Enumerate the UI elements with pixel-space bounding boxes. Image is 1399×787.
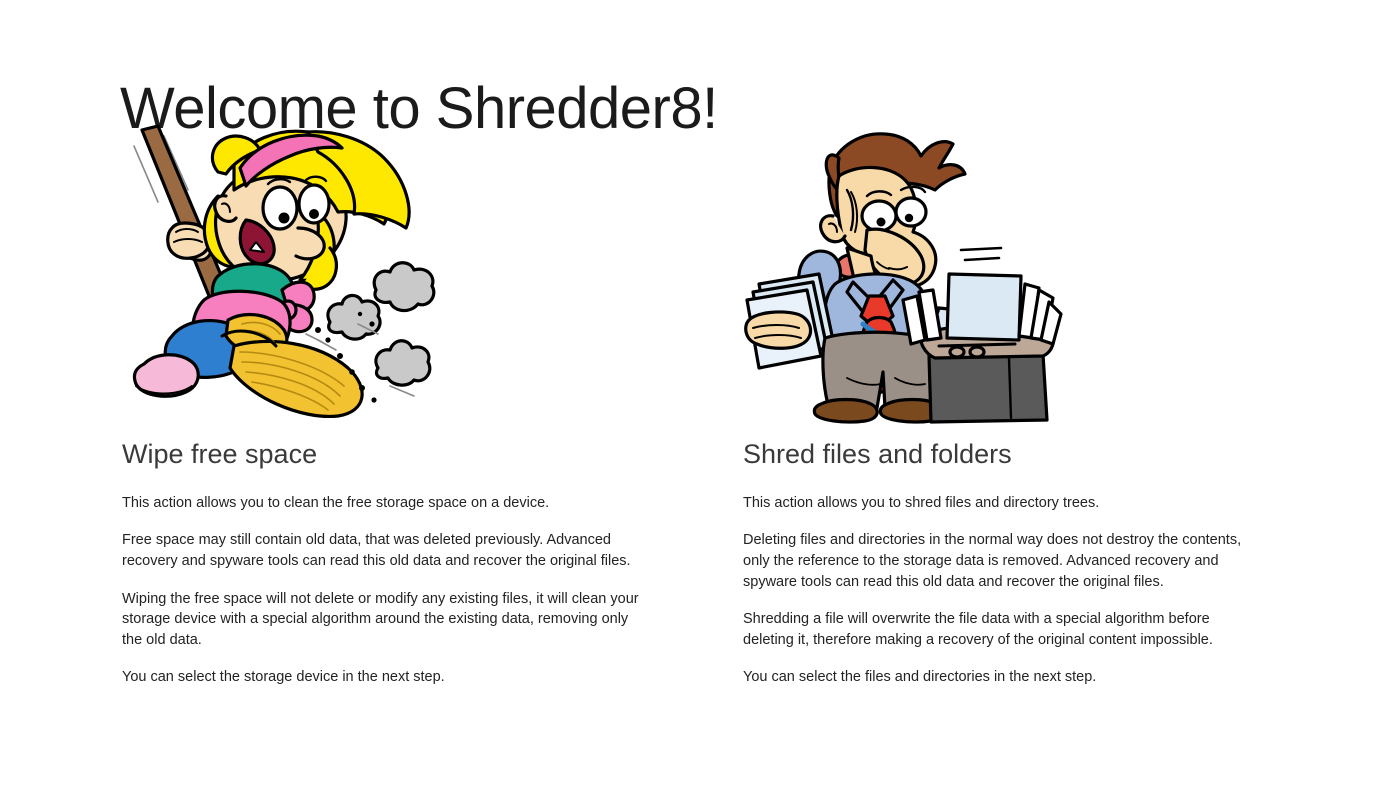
wipe-paragraph-3: Wiping the free space will not delete or… xyxy=(122,589,646,651)
feature-column-shred-files-and-folders[interactable]: Shred files and folders This action allo… xyxy=(743,124,1303,702)
feature-column-wipe-free-space[interactable]: Wipe free space This action allows you t… xyxy=(122,124,682,702)
section-heading-shred-files-and-folders: Shred files and folders xyxy=(743,438,1303,470)
shred-paragraph-1: This action allows you to shred files an… xyxy=(743,493,1253,514)
welcome-page: Welcome to Shredder8! xyxy=(0,0,1399,787)
wipe-paragraph-1: This action allows you to clean the free… xyxy=(122,493,646,514)
girl-sweeping-with-broom-illustration xyxy=(122,124,442,424)
shred-paragraph-2: Deleting files and directories in the no… xyxy=(743,530,1253,592)
shred-paragraph-3: Shredding a file will overwrite the file… xyxy=(743,609,1253,650)
shred-paragraph-4: You can select the files and directories… xyxy=(743,667,1253,688)
man-shredding-documents-illustration xyxy=(743,124,1063,424)
wipe-paragraph-4: You can select the storage device in the… xyxy=(122,667,646,688)
section-heading-wipe-free-space: Wipe free space xyxy=(122,438,682,470)
wipe-paragraph-2: Free space may still contain old data, t… xyxy=(122,530,646,571)
